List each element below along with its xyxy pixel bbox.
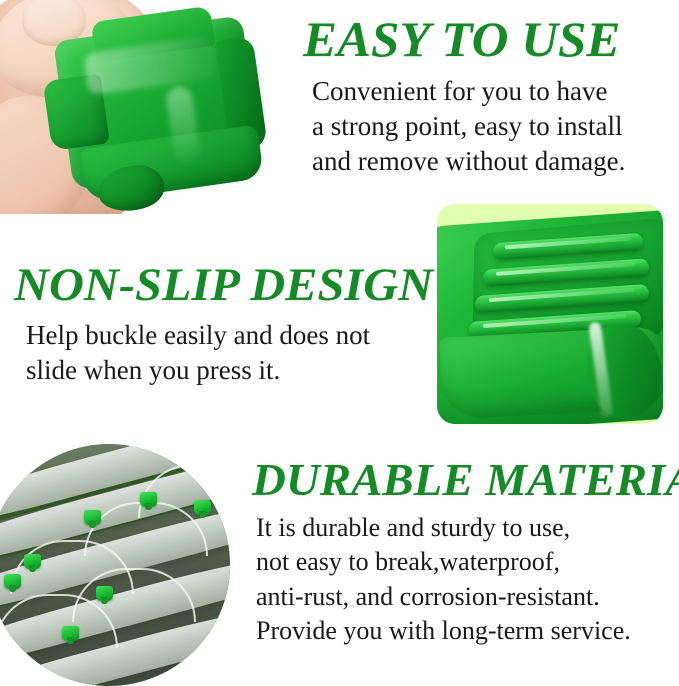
green-clip-in-field <box>96 586 113 601</box>
feature-heading-non-slip-design: NON-SLIP DESIGN <box>14 262 433 309</box>
product-feature-infographic: EASY TO USE Convenient for you to have a… <box>0 0 679 684</box>
greenhouse-field-photo <box>0 444 230 686</box>
green-clip-product <box>36 6 278 205</box>
green-clip-in-field <box>194 500 211 515</box>
green-clip-in-field <box>4 574 21 589</box>
feature-heading-easy-to-use: EASY TO USE <box>303 14 620 64</box>
feature-body-easy-to-use: Convenient for you to have a strong poin… <box>312 74 678 179</box>
hand-holding-green-clip-photo <box>0 0 292 214</box>
feature-body-non-slip-design: Help buckle easily and does not slide wh… <box>26 318 426 388</box>
green-clip-in-field <box>24 554 41 569</box>
green-clip-in-field <box>62 626 79 641</box>
green-clip-in-field <box>84 510 101 525</box>
feature-heading-durable-material: DURABLE MATERIAL <box>252 457 679 503</box>
feature-body-durable-material: It is durable and sturdy to use, not eas… <box>256 511 679 648</box>
ribbed-clip-closeup-photo <box>437 204 663 424</box>
green-clip-in-field <box>140 492 157 507</box>
